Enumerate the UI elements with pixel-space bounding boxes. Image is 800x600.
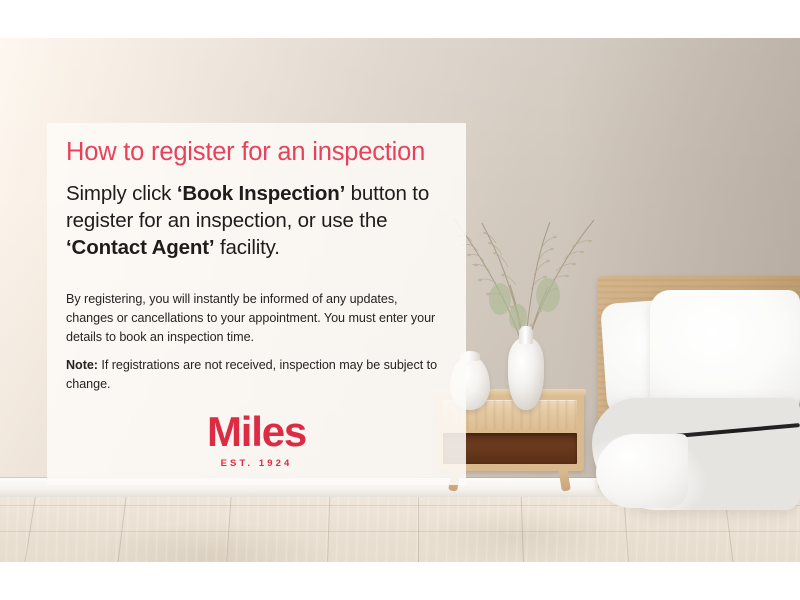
body-paragraph-registering: By registering, you will instantly be in…	[66, 290, 446, 347]
page-title: How to register for an inspection	[66, 137, 456, 168]
lead-bold-contact-agent: ‘Contact Agent’	[66, 236, 214, 259]
lead-part-1: Simply click	[66, 182, 177, 205]
lead-paragraph: Simply click ‘Book Inspection’ button to…	[66, 180, 454, 261]
logo-tagline: EST. 1924	[47, 459, 466, 469]
vase-neck	[519, 326, 533, 344]
screenshot-stage: How to register for an inspection Simply…	[0, 0, 800, 600]
bedroom-scene-image: How to register for an inspection Simply…	[0, 38, 800, 562]
letterbox-bar-top	[0, 0, 800, 38]
white-tall-vase	[508, 338, 544, 410]
logo-wordmark: Miles	[47, 411, 466, 453]
miles-logo: Miles EST. 1924	[47, 411, 466, 469]
info-panel: How to register for an inspection Simply…	[47, 123, 466, 485]
body-paragraph-note: Note: If registrations are not received,…	[66, 356, 446, 394]
note-text: If registrations are not received, inspe…	[66, 358, 437, 391]
duvet-fold	[596, 434, 688, 508]
lead-bold-book-inspection: ‘Book Inspection’	[177, 182, 345, 205]
letterbox-bar-bottom	[0, 562, 800, 600]
lead-part-3: facility.	[214, 236, 279, 259]
note-label: Note:	[66, 358, 98, 372]
